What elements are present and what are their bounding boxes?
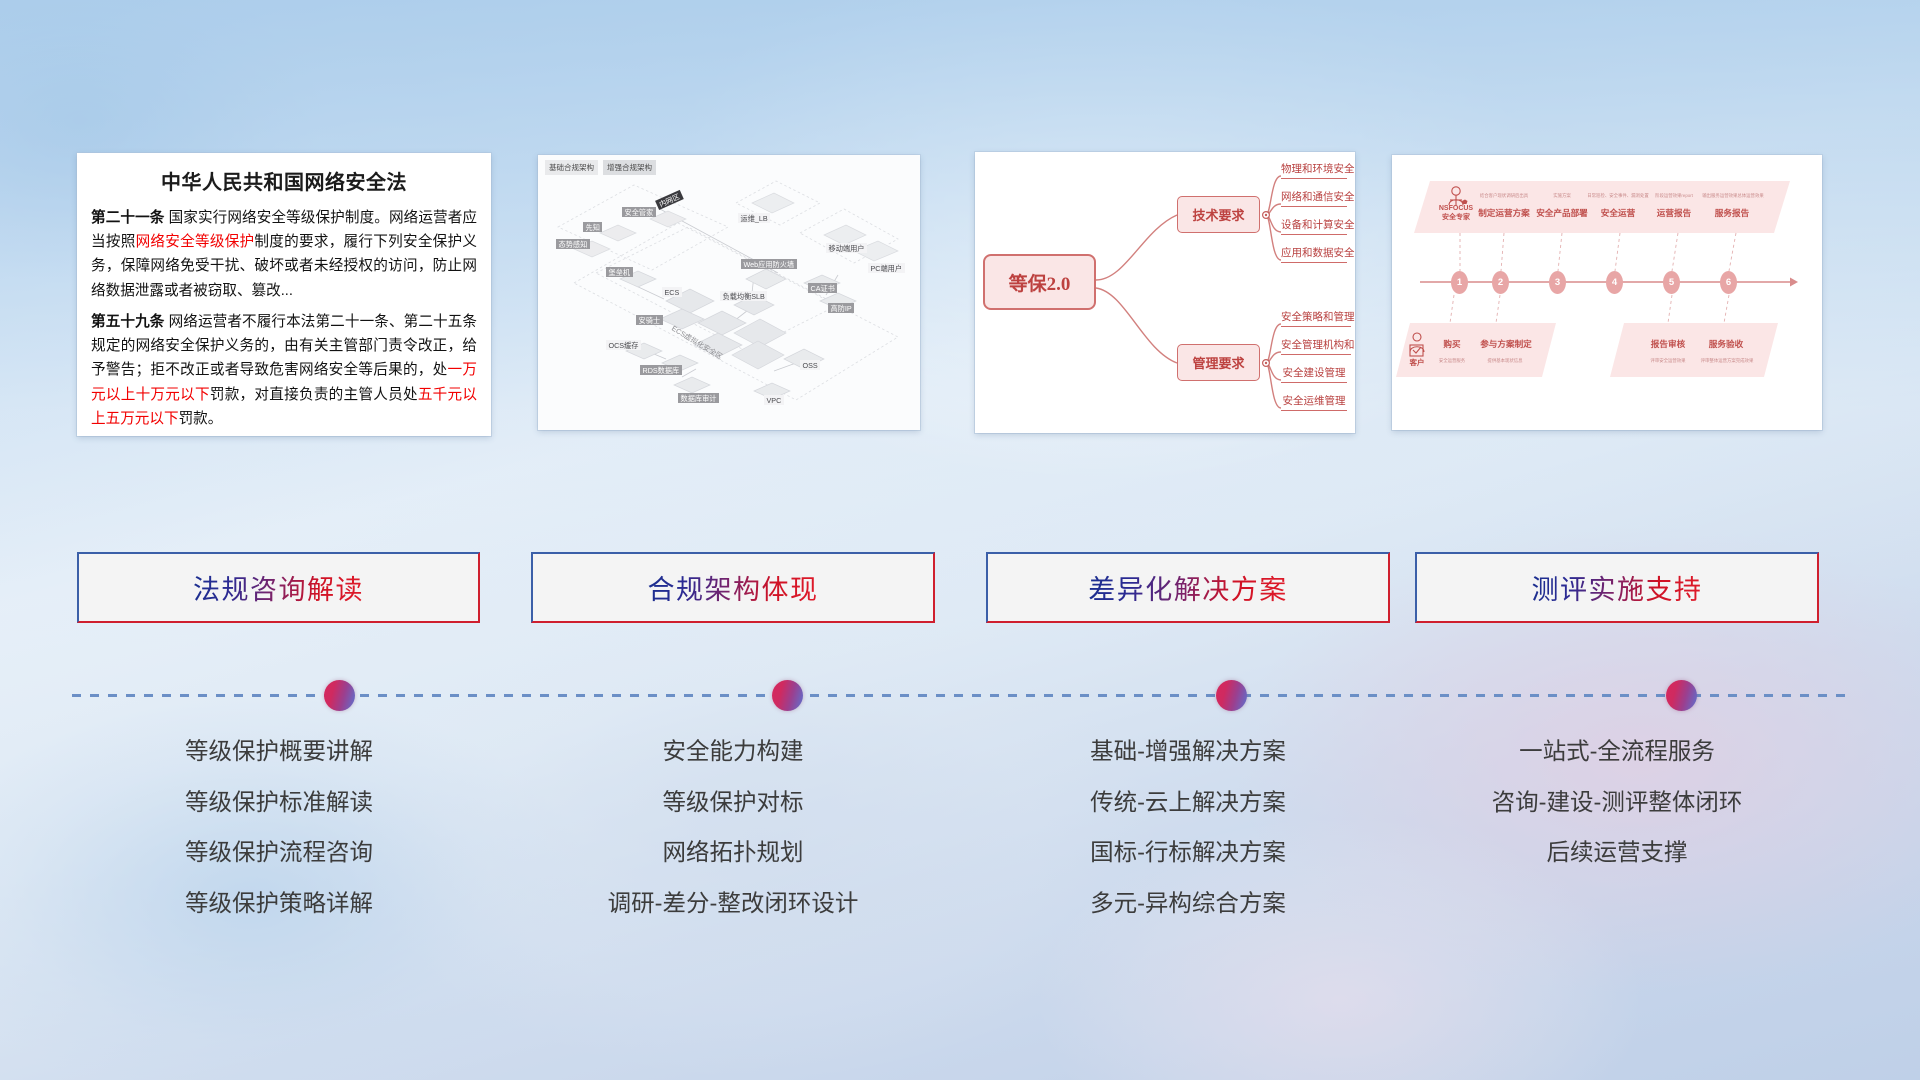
section-header-2[interactable]: 合规架构体现 [531, 552, 935, 623]
timeline-step-1: 1 [1451, 271, 1468, 294]
timeline-top-sub-5: 输出服务运营效果总体运营效果 [1694, 193, 1772, 199]
timeline-bottom-sub-4: 评审整体运营方案完成效果 [1692, 358, 1762, 364]
section-header-1[interactable]: 法规咨询解读 [77, 552, 480, 623]
list-item: 安全能力构建 [531, 740, 935, 764]
card-cloud-architecture: 基础合规架构 增强合规架构 [538, 155, 920, 430]
list-item: 传统-云上解决方案 [986, 791, 1390, 815]
law-article-21-highlight: 网络安全等级保护 [136, 234, 255, 250]
architecture-node-label: 高防IP [828, 303, 854, 313]
list-item: 等级保护标准解读 [77, 791, 481, 815]
list-item: 等级保护流程咨询 [77, 841, 481, 865]
architecture-node-label: 数据库审计 [678, 393, 719, 403]
timeline-bottom-sub-3: 评审安全运营效果 [1638, 358, 1698, 364]
timeline-top-main-5: 服务报告 [1704, 207, 1760, 219]
architecture-node-label: 态势感知 [556, 239, 590, 249]
mindmap-leaf-org-personnel: 安全管理机构和人员 [1281, 337, 1351, 355]
law-article-59: 第五十九条 网络运营者不履行本法第二十一条、第二十五条规定的网络安全保护义务的，… [91, 310, 477, 431]
list-item: 后续运营支撑 [1415, 841, 1819, 865]
section-list-2: 安全能力构建 等级保护对标 网络拓扑规划 调研-差分-整改闭环设计 [531, 740, 935, 942]
law-article-21-label: 第二十一条 [91, 210, 164, 226]
law-article-59-text-b: 罚款，对直接负责的主管人员处 [210, 387, 418, 403]
list-item: 调研-差分-整改闭环设计 [531, 892, 935, 916]
mindmap-root-node: 等保2.0 [983, 254, 1096, 310]
section-list-1: 等级保护概要讲解 等级保护标准解读 等级保护流程咨询 等级保护策略详解 [77, 740, 481, 942]
list-item: 一站式-全流程服务 [1415, 740, 1819, 764]
list-item: 多元-异构综合方案 [986, 892, 1390, 916]
law-article-59-text-c: 罚款。 [179, 411, 223, 427]
card-dengbao-mindmap: 等保2.0 技术要求 管理要求 物理和环境安全 网络和通信安全 设备和计算安全 … [975, 152, 1355, 433]
timeline-step-4: 4 [1606, 271, 1623, 294]
architecture-node-label: PC端用户 [868, 263, 905, 273]
connector-dot-2 [772, 680, 803, 711]
architecture-node-label: RDS数据库 [640, 365, 682, 375]
section-list-4: 一站式-全流程服务 咨询-建设-测评整体闭环 后续运营支撑 [1415, 740, 1819, 892]
timeline-top-main-4: 运营报告 [1646, 207, 1702, 219]
timeline-step-3: 3 [1549, 271, 1566, 294]
list-item: 基础-增强解决方案 [986, 740, 1390, 764]
card-cybersecurity-law: 中华人民共和国网络安全法 第二十一条 国家实行网络安全等级保护制度。网络运营者应… [77, 153, 491, 436]
timeline-top-main-2: 安全产品部署 [1530, 207, 1594, 219]
mindmap-leaf-physical-env: 物理和环境安全 [1281, 161, 1347, 179]
list-item: 国标-行标解决方案 [986, 841, 1390, 865]
architecture-node-label: VPC [764, 395, 784, 405]
timeline-top-main-3: 安全运营 [1592, 207, 1644, 219]
timeline-bottom-main-1: 购买 [1436, 338, 1468, 350]
architecture-node-label: Web应用防火墙 [741, 259, 797, 269]
architecture-node-label: 负载均衡SLB [720, 291, 767, 301]
architecture-node-label: ECS [662, 287, 682, 297]
connector-dot-3 [1216, 680, 1247, 711]
timeline-connector [72, 694, 1848, 698]
timeline-bottom-main-3: 报告审核 [1646, 338, 1690, 350]
timeline-step-2: 2 [1492, 271, 1509, 294]
architecture-node-label: 安全管家 [622, 207, 656, 217]
section-header-1-label: 法规咨询解读 [193, 568, 364, 607]
architecture-node-label: CA证书 [808, 283, 837, 293]
mindmap-leaf-network-comm: 网络和通信安全 [1281, 189, 1347, 207]
card-service-timeline: NSFOCUS 安全专家 客户 1 2 3 4 5 6 制定运营方案 结合客户现… [1392, 155, 1822, 430]
timeline-bottom-main-2: 参与方案制定 [1474, 338, 1538, 350]
mindmap-branch-technical: 技术要求 [1177, 196, 1260, 233]
architecture-node-label: 安骑士 [636, 315, 663, 325]
architecture-node-label: 先知 [583, 222, 602, 232]
mindmap-leaf-policy-system: 安全策略和管理制度 [1281, 309, 1351, 327]
illustration-cards-row: 中华人民共和国网络安全法 第二十一条 国家实行网络安全等级保护制度。网络运营者应… [0, 0, 1920, 450]
section-header-4[interactable]: 测评实施支持 [1415, 552, 1819, 623]
timeline-top-sub-1: 结合客户现状调研后出具 [1470, 193, 1538, 199]
law-title: 中华人民共和国网络安全法 [91, 166, 477, 195]
law-article-59-label: 第五十九条 [91, 314, 164, 330]
timeline-bottom-sub-1: 安全运营服务 [1428, 358, 1476, 364]
section-header-3-label: 差异化解决方案 [1088, 568, 1288, 607]
list-item: 等级保护概要讲解 [77, 740, 481, 764]
mindmap-leaf-device-compute: 设备和计算安全 [1281, 217, 1347, 235]
connector-dot-1 [324, 680, 355, 711]
architecture-node-label: 运维_LB [738, 213, 770, 223]
timeline-step-5: 5 [1663, 271, 1680, 294]
mindmap-leaf-app-data: 应用和数据安全 [1281, 245, 1347, 263]
timeline-top-main-1: 制定运营方案 [1472, 207, 1536, 219]
section-header-2-label: 合规架构体现 [648, 568, 819, 607]
timeline-top-sub-2: 实施方案 [1538, 193, 1586, 199]
mindmap-leaf-construction-mgmt: 安全建设管理 [1281, 365, 1347, 383]
mindmap-branch-management: 管理要求 [1177, 344, 1260, 381]
list-item: 咨询-建设-测评整体闭环 [1415, 791, 1819, 815]
law-article-21: 第二十一条 国家实行网络安全等级保护制度。网络运营者应当按照网络安全等级保护制度… [91, 206, 477, 303]
architecture-node-label: OSS [800, 360, 820, 370]
list-item: 等级保护对标 [531, 791, 935, 815]
timeline-bottom-main-4: 服务验收 [1704, 338, 1748, 350]
timeline-bottom-sub-2: 提供基本现状信息 [1474, 358, 1536, 364]
list-item: 网络拓扑规划 [531, 841, 935, 865]
section-header-4-label: 测评实施支持 [1532, 568, 1703, 607]
list-item: 等级保护策略详解 [77, 892, 481, 916]
section-header-3[interactable]: 差异化解决方案 [986, 552, 1390, 623]
mindmap-leaf-ops-mgmt: 安全运维管理 [1281, 393, 1347, 411]
timeline-step-6: 6 [1720, 271, 1737, 294]
section-list-3: 基础-增强解决方案 传统-云上解决方案 国标-行标解决方案 多元-异构综合方案 [986, 740, 1390, 942]
architecture-node-label: 堡垒机 [606, 267, 633, 277]
architecture-node-label: 移动端用户 [826, 243, 867, 253]
connector-dot-4 [1666, 680, 1697, 711]
architecture-node-label: OCS缓存 [606, 340, 641, 350]
